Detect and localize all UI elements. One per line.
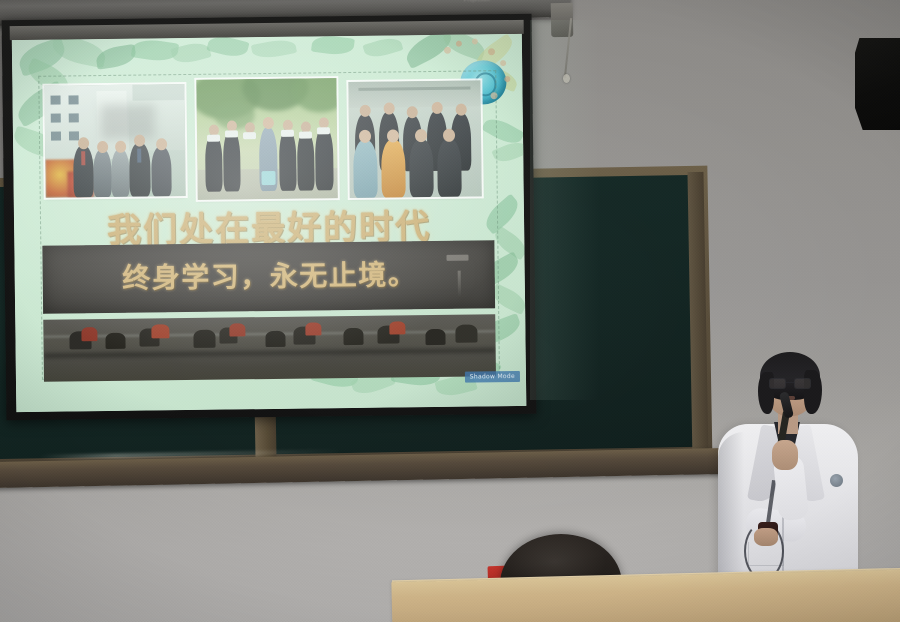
presenter-hair-right bbox=[804, 370, 822, 414]
slide-subline: 终身学习，永无止境。 bbox=[14, 252, 524, 298]
berry-icon bbox=[444, 47, 451, 54]
leaf-icon bbox=[251, 37, 297, 61]
leaf-icon bbox=[362, 34, 403, 60]
presenter-hand-holding-mic bbox=[772, 440, 798, 470]
screen-surface: 我们处在最好的时代 终身学习，永无止境。 bbox=[12, 34, 527, 412]
berry-icon bbox=[456, 41, 462, 47]
screen-pull-knob[interactable] bbox=[563, 74, 570, 83]
slide-content: 我们处在最好的时代 终身学习，永无止境。 bbox=[12, 34, 527, 412]
roller-brand-label: Projection bbox=[464, 0, 490, 4]
coat-badge bbox=[830, 474, 843, 487]
projection-screen: 我们处在最好的时代 终身学习，永无止境。 bbox=[2, 14, 537, 420]
slide-watermark: Shadow Mode bbox=[465, 371, 520, 383]
berry-icon bbox=[488, 48, 495, 55]
slide-photo-1 bbox=[44, 84, 185, 198]
leaf-icon bbox=[311, 34, 355, 57]
berry-icon bbox=[472, 38, 478, 44]
slide-photo-2 bbox=[196, 78, 337, 200]
slide-photo-3 bbox=[348, 80, 481, 198]
berry-icon bbox=[504, 76, 510, 82]
berry-icon bbox=[500, 60, 506, 66]
classroom-photo-scene: Projection bbox=[0, 0, 900, 622]
leaf-icon bbox=[206, 34, 249, 60]
slide-bottom-photo bbox=[43, 314, 496, 382]
leaf-icon bbox=[95, 44, 138, 70]
presenter-hand-lower bbox=[754, 528, 778, 546]
glasses-icon bbox=[769, 378, 811, 389]
wall-speaker-icon bbox=[855, 38, 900, 130]
